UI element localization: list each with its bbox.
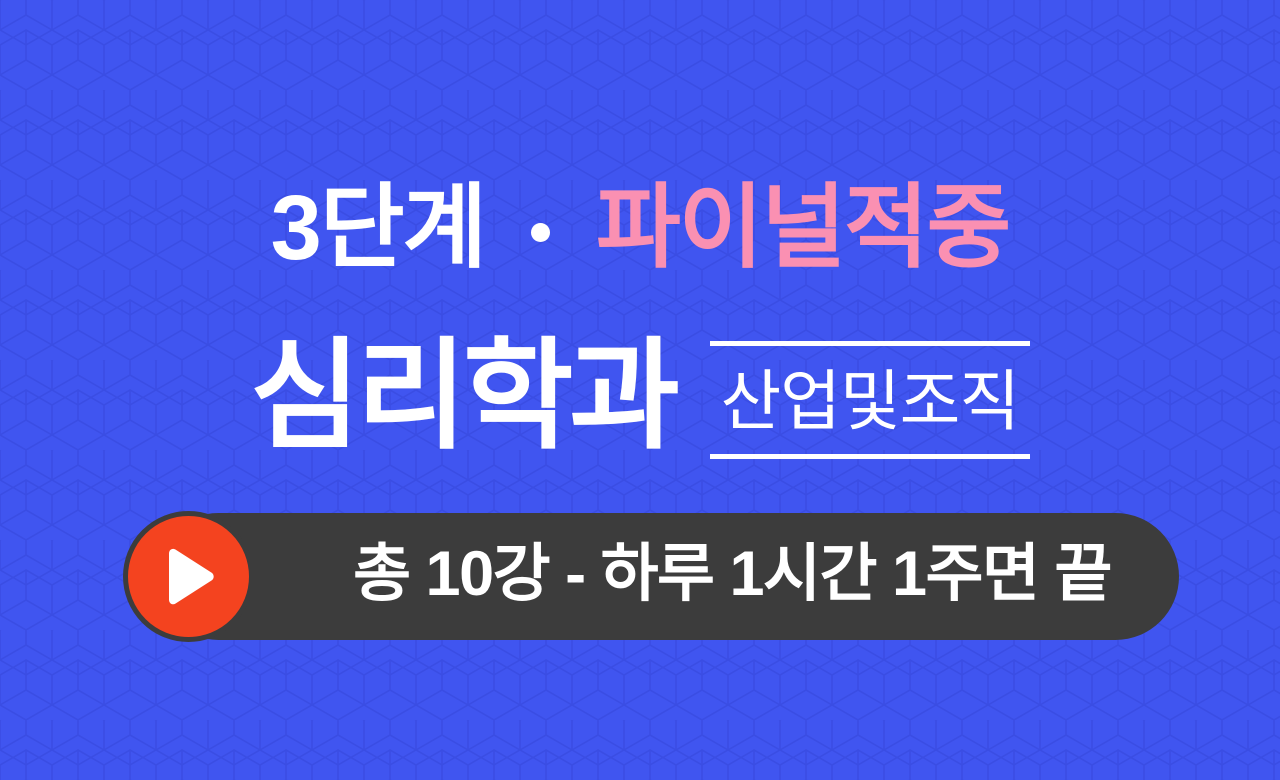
banner-content: 3단계 파이널적중 심리학과 산업및조직 총 10강 - 하루 1시간 1주면 … (0, 0, 1280, 780)
course-promo-banner: 3단계 파이널적중 심리학과 산업및조직 총 10강 - 하루 1시간 1주면 … (0, 0, 1280, 780)
subject-label: 산업및조직 (720, 368, 1019, 434)
headline-main-row: 심리학과 산업및조직 (0, 326, 1280, 466)
play-triangle-icon (161, 547, 217, 607)
final-label: 파이널적중 (596, 182, 1009, 274)
play-button[interactable] (123, 511, 254, 642)
cta-label: 총 10강 - 하루 1시간 1주면 끝 (353, 543, 1111, 606)
department-title: 심리학과 (250, 336, 676, 456)
stage-label: 3단계 (271, 182, 485, 274)
bullet-dot-icon (531, 223, 550, 242)
cta-pill[interactable]: 총 10강 - 하루 1시간 1주면 끝 (155, 513, 1179, 640)
headline-top-row: 3단계 파이널적중 (0, 168, 1280, 288)
cta-row: 총 10강 - 하루 1시간 1주면 끝 (123, 511, 1179, 641)
subject-badge: 산업및조직 (710, 341, 1030, 459)
